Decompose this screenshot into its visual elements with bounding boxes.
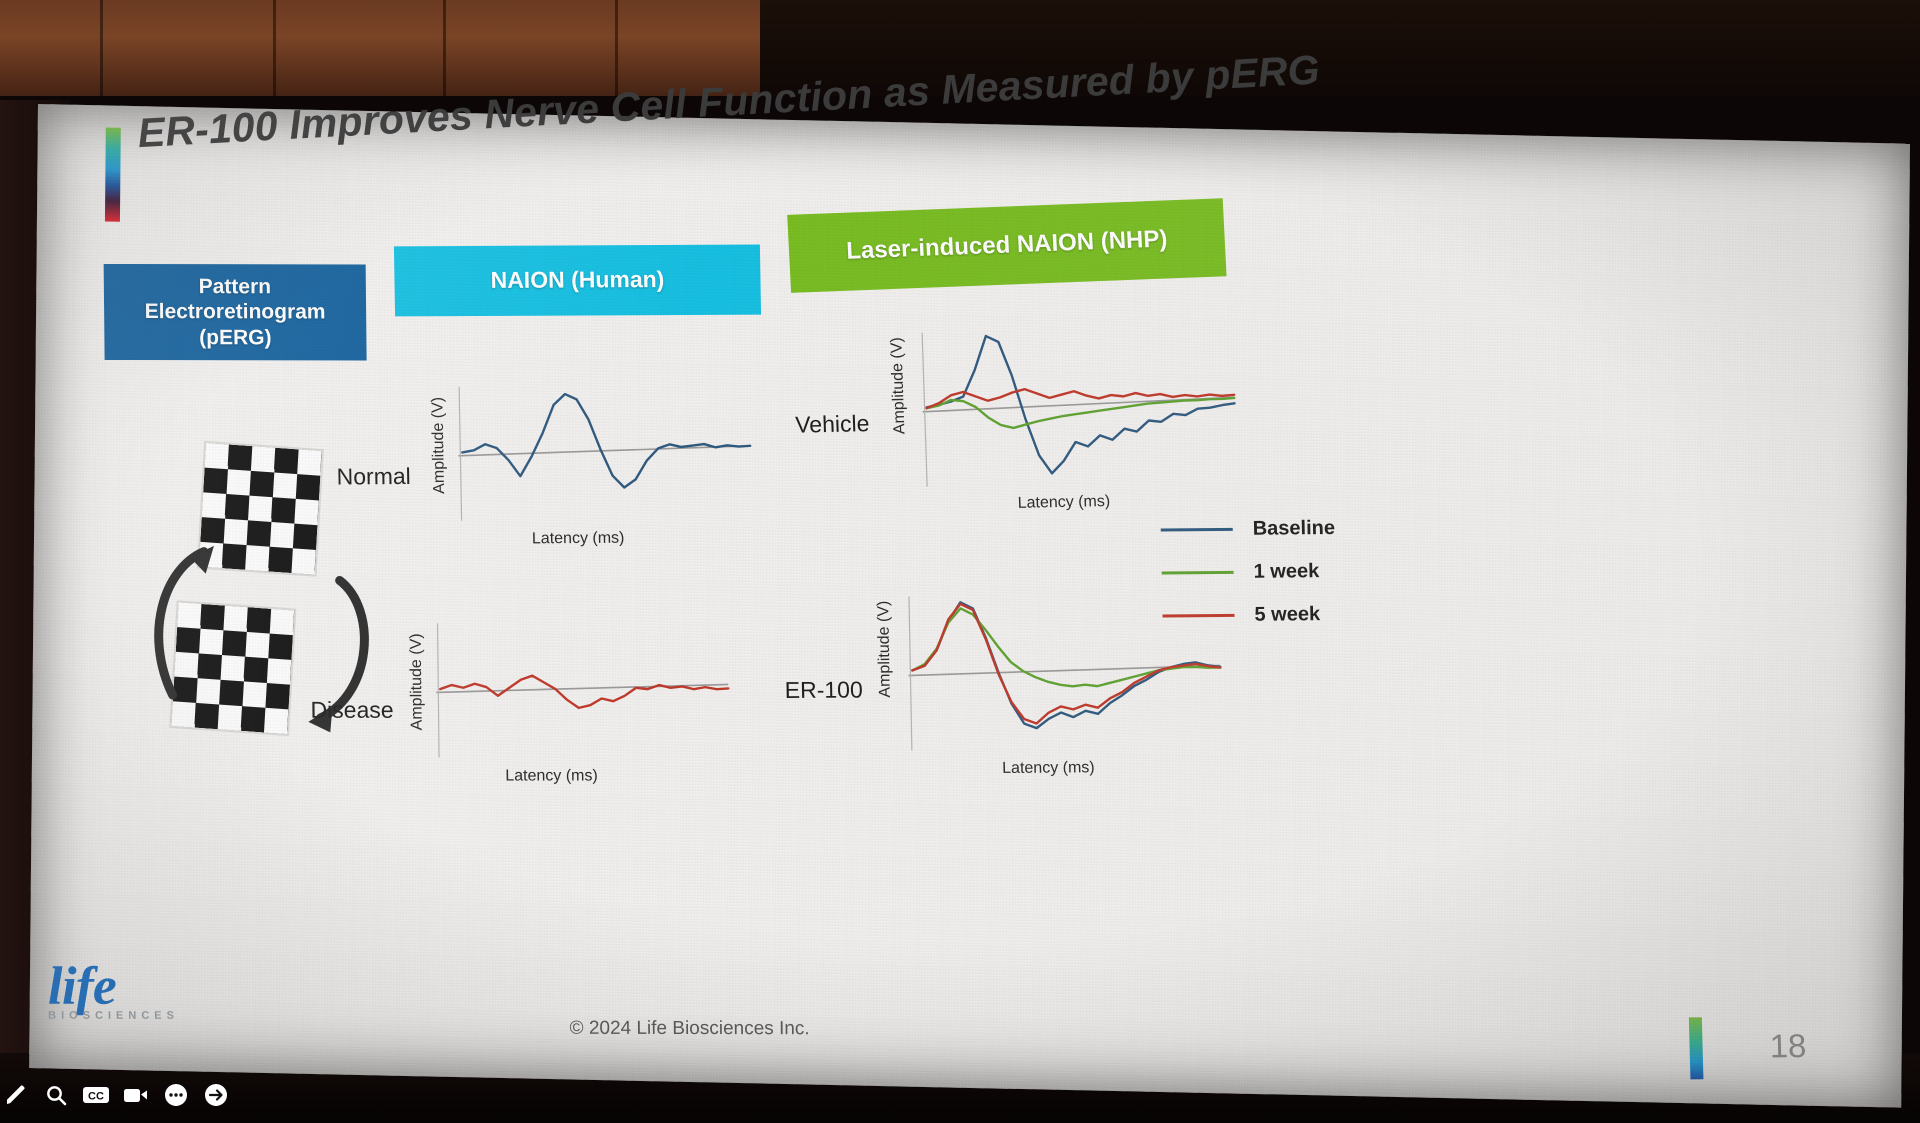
chart-er100-xlabel: Latency (ms) xyxy=(1002,759,1095,778)
chart-disease-xlabel: Latency (ms) xyxy=(505,767,598,785)
chart-er100-ylabel: Amplitude (V) xyxy=(875,601,895,698)
chart-disease-ylabel: Amplitude (V) xyxy=(408,633,427,730)
video-icon[interactable] xyxy=(122,1081,150,1109)
header-box-nhp: Laser-induced NAION (NHP) xyxy=(787,198,1226,293)
page-number: 18 xyxy=(1769,1027,1807,1066)
company-logo: life BIOSCIENCES xyxy=(48,962,179,1022)
legend-swatch-1week xyxy=(1162,571,1234,575)
brand-accent-bar xyxy=(105,127,121,221)
header-box-nhp-label: Laser-induced NAION (NHP) xyxy=(846,225,1168,266)
pen-icon[interactable] xyxy=(2,1081,30,1109)
chart-disease-plot xyxy=(433,615,735,765)
row-label-er100: ER-100 xyxy=(785,677,863,705)
legend-label-baseline: Baseline xyxy=(1253,517,1336,541)
chart-vehicle-xlabel: Latency (ms) xyxy=(1017,493,1110,513)
logo-wordmark: life xyxy=(48,962,179,1012)
legend-item-baseline: Baseline xyxy=(1161,517,1336,541)
search-icon[interactable] xyxy=(42,1081,70,1109)
chart-vehicle: Amplitude (V) Latency (ms) xyxy=(892,318,1239,535)
legend-swatch-5week xyxy=(1162,614,1234,618)
legend-item-5week: 5 week xyxy=(1162,603,1337,627)
legend-label-5week: 5 week xyxy=(1254,603,1320,627)
chart-normal: Amplitude (V) Latency (ms) xyxy=(433,377,757,569)
header-box-perg-label: Pattern Electroretinogram (pERG) xyxy=(144,274,326,350)
presentation-slide: ER-100 Improves Nerve Cell Function as M… xyxy=(29,104,1910,1108)
logo-subtitle: BIOSCIENCES xyxy=(48,1009,179,1021)
chart-normal-plot xyxy=(455,377,758,529)
wall-seam xyxy=(443,0,446,108)
chart-disease: Amplitude (V) Latency (ms) xyxy=(411,615,733,805)
legend-label-1week: 1 week xyxy=(1253,560,1319,584)
header-box-naion-label: NAION (Human) xyxy=(490,266,664,294)
next-icon[interactable] xyxy=(202,1081,230,1109)
wall-seam xyxy=(100,0,103,108)
closed-captions-icon[interactable]: CC xyxy=(82,1081,110,1109)
chart-vehicle-ylabel: Amplitude (V) xyxy=(888,337,909,434)
row-label-normal: Normal xyxy=(336,463,411,491)
copyright-notice: © 2024 Life Biosciences Inc. xyxy=(570,1018,810,1040)
player-controls[interactable]: CC xyxy=(0,1081,230,1109)
chart-normal-ylabel: Amplitude (V) xyxy=(429,397,449,494)
legend-swatch-baseline xyxy=(1161,528,1233,532)
wall-seam xyxy=(273,0,276,108)
more-icon[interactable] xyxy=(162,1081,190,1109)
screenshot-root: ER-100 Improves Nerve Cell Function as M… xyxy=(0,0,1920,1123)
header-box-perg: Pattern Electroretinogram (pERG) xyxy=(104,264,367,361)
chart-normal-xlabel: Latency (ms) xyxy=(532,530,625,549)
legend-item-1week: 1 week xyxy=(1161,560,1336,584)
svg-text:CC: CC xyxy=(88,1091,104,1103)
row-label-vehicle: Vehicle xyxy=(795,410,870,439)
page-accent-bar xyxy=(1689,1017,1704,1079)
header-box-naion: NAION (Human) xyxy=(394,245,761,317)
chart-vehicle-plot xyxy=(918,318,1243,495)
row-label-disease: Disease xyxy=(310,697,393,724)
chart-legend: Baseline 1 week 5 week xyxy=(1161,517,1338,648)
